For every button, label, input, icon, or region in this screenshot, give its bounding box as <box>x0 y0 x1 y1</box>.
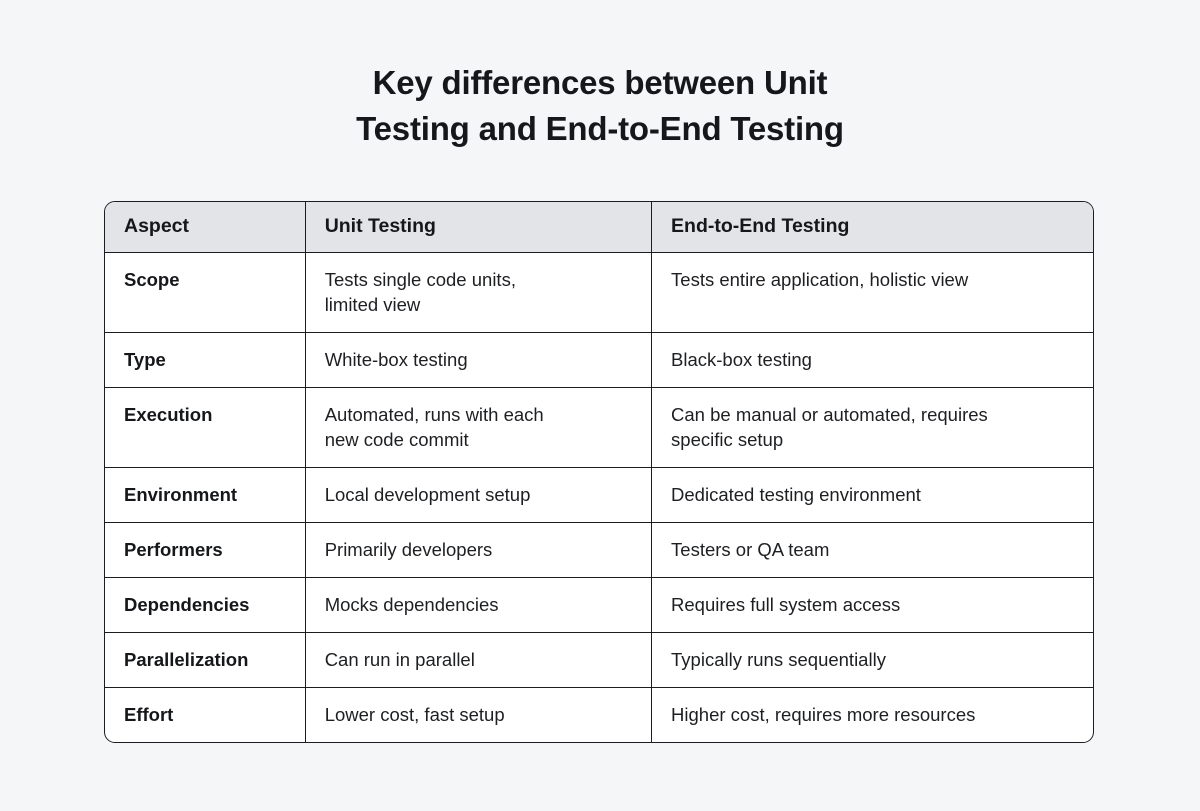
cell-text-line: limited view <box>325 292 629 317</box>
table-row: ScopeTests single code units,limited vie… <box>105 252 1093 332</box>
column-header-unit-testing: Unit Testing <box>305 202 651 252</box>
cell-text-line: new code commit <box>325 427 629 452</box>
table-body: ScopeTests single code units,limited vie… <box>105 252 1093 742</box>
cell-end-to-end-testing: Can be manual or automated, requiresspec… <box>652 387 1093 467</box>
table-row: PerformersPrimarily developersTesters or… <box>105 522 1093 577</box>
cell-unit-testing: Can run in parallel <box>305 632 651 687</box>
cell-text-line: Requires full system access <box>671 592 1071 617</box>
table-row: EffortLower cost, fast setupHigher cost,… <box>105 687 1093 742</box>
cell-text-line: Automated, runs with each <box>325 402 629 427</box>
cell-text-line: Typically runs sequentially <box>671 647 1071 672</box>
cell-unit-testing: White-box testing <box>305 332 651 387</box>
cell-text-line: Tests entire application, holistic view <box>671 267 1071 292</box>
page-title: Key differences between Unit Testing and… <box>0 60 1200 152</box>
cell-end-to-end-testing: Requires full system access <box>652 577 1093 632</box>
cell-text-line: White-box testing <box>325 347 629 372</box>
page-root: Key differences between Unit Testing and… <box>0 0 1200 811</box>
table-row: TypeWhite-box testingBlack-box testing <box>105 332 1093 387</box>
cell-aspect: Scope <box>105 252 305 332</box>
column-header-aspect: Aspect <box>105 202 305 252</box>
cell-end-to-end-testing: Black-box testing <box>652 332 1093 387</box>
cell-end-to-end-testing: Testers or QA team <box>652 522 1093 577</box>
cell-unit-testing: Tests single code units,limited view <box>305 252 651 332</box>
cell-aspect: Type <box>105 332 305 387</box>
cell-text-line: Can be manual or automated, requires <box>671 402 1071 427</box>
cell-text-line: Lower cost, fast setup <box>325 702 629 727</box>
cell-end-to-end-testing: Tests entire application, holistic view <box>652 252 1093 332</box>
cell-end-to-end-testing: Dedicated testing environment <box>652 467 1093 522</box>
cell-unit-testing: Primarily developers <box>305 522 651 577</box>
cell-unit-testing: Automated, runs with eachnew code commit <box>305 387 651 467</box>
table-header: Aspect Unit Testing End-to-End Testing <box>105 202 1093 252</box>
cell-text-line: Local development setup <box>325 482 629 507</box>
cell-aspect: Performers <box>105 522 305 577</box>
comparison-table: Aspect Unit Testing End-to-End Testing S… <box>105 202 1093 742</box>
cell-text-line: Tests single code units, <box>325 267 629 292</box>
cell-text-line: Black-box testing <box>671 347 1071 372</box>
cell-aspect: Environment <box>105 467 305 522</box>
cell-text-line: Dedicated testing environment <box>671 482 1071 507</box>
cell-unit-testing: Local development setup <box>305 467 651 522</box>
table-header-row: Aspect Unit Testing End-to-End Testing <box>105 202 1093 252</box>
cell-text-line: Testers or QA team <box>671 537 1071 562</box>
page-title-line-1: Key differences between Unit <box>0 60 1200 106</box>
table-row: EnvironmentLocal development setupDedica… <box>105 467 1093 522</box>
cell-text-line: Primarily developers <box>325 537 629 562</box>
cell-end-to-end-testing: Typically runs sequentially <box>652 632 1093 687</box>
cell-aspect: Execution <box>105 387 305 467</box>
cell-text-line: Higher cost, requires more resources <box>671 702 1071 727</box>
table-row: ParallelizationCan run in parallelTypica… <box>105 632 1093 687</box>
cell-end-to-end-testing: Higher cost, requires more resources <box>652 687 1093 742</box>
cell-unit-testing: Lower cost, fast setup <box>305 687 651 742</box>
cell-text-line: specific setup <box>671 427 1071 452</box>
cell-text-line: Can run in parallel <box>325 647 629 672</box>
column-header-end-to-end-testing: End-to-End Testing <box>652 202 1093 252</box>
cell-aspect: Dependencies <box>105 577 305 632</box>
cell-aspect: Effort <box>105 687 305 742</box>
cell-text-line: Mocks dependencies <box>325 592 629 617</box>
table-row: DependenciesMocks dependenciesRequires f… <box>105 577 1093 632</box>
table-row: ExecutionAutomated, runs with eachnew co… <box>105 387 1093 467</box>
cell-unit-testing: Mocks dependencies <box>305 577 651 632</box>
page-title-line-2: Testing and End-to-End Testing <box>0 106 1200 152</box>
cell-aspect: Parallelization <box>105 632 305 687</box>
comparison-table-container: Aspect Unit Testing End-to-End Testing S… <box>104 201 1094 743</box>
